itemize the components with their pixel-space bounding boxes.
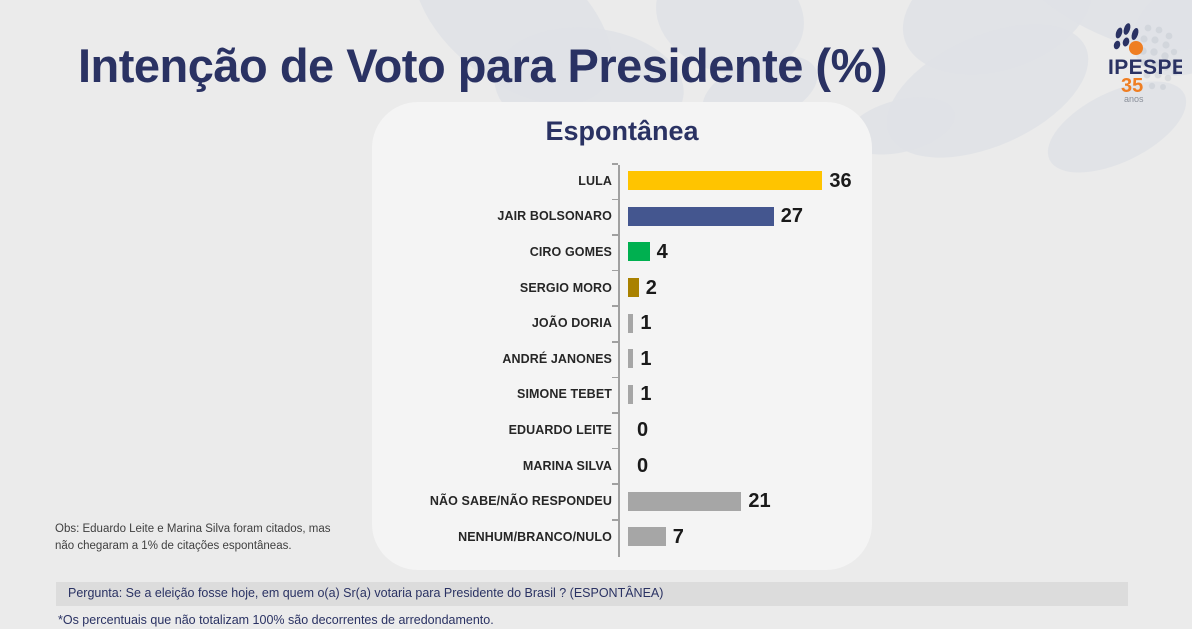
bar-row: JOÃO DORIA1 xyxy=(372,305,932,341)
bar-rows: LULA36JAIR BOLSONARO27CIRO GOMES4SERGIO … xyxy=(372,163,932,563)
bar-value-label: 21 xyxy=(748,491,770,511)
bar xyxy=(628,207,774,226)
bar-category-label: NENHUM/BRANCO/NULO xyxy=(372,530,620,544)
bar-category-label: JAIR BOLSONARO xyxy=(372,209,620,223)
bar xyxy=(628,242,650,261)
axis-tick xyxy=(612,377,618,379)
bar xyxy=(628,385,633,404)
bar-value-label: 36 xyxy=(829,171,851,191)
ipespe-logo: IPESPE 35 anos xyxy=(1086,12,1182,104)
bar-value-label: 2 xyxy=(646,278,657,298)
bar-value-label: 0 xyxy=(637,420,648,440)
axis-tick xyxy=(612,234,618,236)
bar-value-label: 1 xyxy=(640,349,651,369)
bar-container: 0 xyxy=(628,420,648,440)
bar-value-label: 0 xyxy=(637,456,648,476)
axis-tick xyxy=(612,199,618,201)
axis-tick xyxy=(612,163,618,165)
decor-blob-icon xyxy=(867,0,1108,185)
chart-subtitle: Espontânea xyxy=(372,116,872,147)
slide-root: Intenção de Voto para Presidente (%) IPE… xyxy=(0,0,1192,629)
bar-row: SIMONE TEBET1 xyxy=(372,377,932,413)
bar-category-label: JOÃO DORIA xyxy=(372,316,620,330)
axis-tick xyxy=(612,270,618,272)
bar-category-label: CIRO GOMES xyxy=(372,245,620,259)
bar-category-label: EDUARDO LEITE xyxy=(372,423,620,437)
bar-category-label: SIMONE TEBET xyxy=(372,387,620,401)
bar-row: ANDRÉ JANONES1 xyxy=(372,341,932,377)
axis-tick xyxy=(612,519,618,521)
bar-value-label: 27 xyxy=(781,206,803,226)
axis-tick xyxy=(612,483,618,485)
bar-container: 1 xyxy=(628,384,652,404)
bar-value-label: 1 xyxy=(640,384,651,404)
footer-note: *Os percentuais que não totalizam 100% s… xyxy=(58,613,494,627)
bar xyxy=(628,314,633,333)
bar xyxy=(628,171,822,190)
bar-row: MARINA SILVA0 xyxy=(372,448,932,484)
axis-tick xyxy=(612,412,618,414)
bar-row: LULA36 xyxy=(372,163,932,199)
bar-category-label: LULA xyxy=(372,174,620,188)
decor-blob-icon xyxy=(886,0,1109,97)
bar-container: 4 xyxy=(628,242,668,262)
bar-row: NÃO SABE/NÃO RESPONDEU21 xyxy=(372,483,932,519)
bar-value-label: 4 xyxy=(657,242,668,262)
bar-value-label: 1 xyxy=(640,313,651,333)
bar-category-label: ANDRÉ JANONES xyxy=(372,352,620,366)
bar-row: NENHUM/BRANCO/NULO7 xyxy=(372,519,932,555)
bar-container: 1 xyxy=(628,349,652,369)
observation-line-1: Obs: Eduardo Leite e Marina Silva foram … xyxy=(55,521,367,538)
axis-tick xyxy=(612,448,618,450)
bar-container: 36 xyxy=(628,171,852,191)
bar-container: 7 xyxy=(628,527,684,547)
bar-row: JAIR BOLSONARO27 xyxy=(372,199,932,235)
observation-note: Obs: Eduardo Leite e Marina Silva foram … xyxy=(55,521,367,554)
bar-category-label: MARINA SILVA xyxy=(372,459,620,473)
axis-tick xyxy=(612,341,618,343)
page-title: Intenção de Voto para Presidente (%) xyxy=(78,38,887,93)
bar xyxy=(628,349,633,368)
bar-row: SERGIO MORO2 xyxy=(372,270,932,306)
ipespe-logo-icon: IPESPE 35 anos xyxy=(1086,12,1182,104)
bar xyxy=(628,278,639,297)
bar-container: 21 xyxy=(628,491,771,511)
bar-row: EDUARDO LEITE0 xyxy=(372,412,932,448)
observation-line-2: não chegaram a 1% de citações espontânea… xyxy=(55,538,367,555)
bar xyxy=(628,527,666,546)
bar-row: CIRO GOMES4 xyxy=(372,234,932,270)
bar-container: 2 xyxy=(628,278,657,298)
bar-container: 1 xyxy=(628,313,652,333)
footer-question: Pergunta: Se a eleição fosse hoje, em qu… xyxy=(68,586,663,600)
bar-category-label: NÃO SABE/NÃO RESPONDEU xyxy=(372,494,620,508)
axis-tick xyxy=(612,305,618,307)
bar xyxy=(628,492,741,511)
svg-text:anos: anos xyxy=(1124,94,1144,104)
bar-category-label: SERGIO MORO xyxy=(372,281,620,295)
svg-text:IPESPE: IPESPE xyxy=(1108,56,1182,79)
bar-chart: LULA36JAIR BOLSONARO27CIRO GOMES4SERGIO … xyxy=(372,163,932,563)
bar-container: 0 xyxy=(628,456,648,476)
bar-value-label: 7 xyxy=(673,527,684,547)
bar-container: 27 xyxy=(628,206,803,226)
